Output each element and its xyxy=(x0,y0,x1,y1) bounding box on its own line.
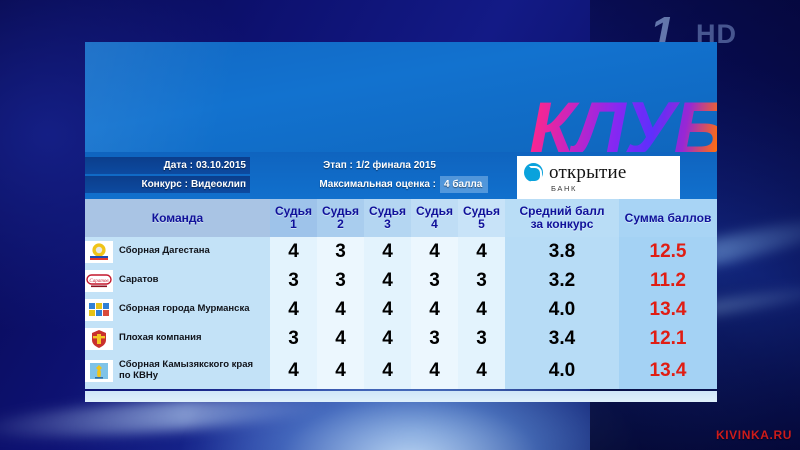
team-name: Плохая компания xyxy=(119,333,202,344)
contest-label: Конкурс : xyxy=(141,179,187,190)
cell-judge-3-score: 4 xyxy=(364,324,411,353)
stage-value: 1/2 финала 2015 xyxy=(353,160,436,171)
info-strip: Дата : 03.10.2015 Этап : 1/2 финала 2015… xyxy=(85,152,717,199)
column-header-judge-2: Судья 2 xyxy=(317,199,364,237)
cell-judge-5-score: 4 xyxy=(458,295,505,324)
table-row: СаратовСаратов334333.211.2 xyxy=(85,266,717,295)
site-watermark: KIVINKA.RU xyxy=(716,428,792,442)
cell-judge-2-score: 4 xyxy=(317,295,364,324)
show-title: КЛУБ xyxy=(529,92,717,152)
cell-average-score: 4.0 xyxy=(505,295,619,324)
show-title-plate: КЛУБ xyxy=(85,42,717,152)
cell-total-score: 12.5 xyxy=(619,237,717,266)
otkritie-circle-icon xyxy=(524,163,543,182)
cell-judge-5-score: 3 xyxy=(458,266,505,295)
cell-judge-3-score: 4 xyxy=(364,266,411,295)
max-score-value: 4 балла xyxy=(444,179,482,190)
cell-team: Сборная Дагестана xyxy=(85,237,270,266)
plohaya-kompaniya-emblem xyxy=(85,328,113,350)
kamyzyak-emblem xyxy=(85,360,113,382)
table-row: Плохая компания344333.412.1 xyxy=(85,324,717,353)
cell-judge-3-score: 4 xyxy=(364,353,411,389)
table-row: Сборная Дагестана434443.812.5 xyxy=(85,237,717,266)
cell-judge-1-score: 3 xyxy=(270,324,317,353)
cell-judge-5-score: 3 xyxy=(458,324,505,353)
cell-judge-2-score: 4 xyxy=(317,324,364,353)
table-row: Сборная города Мурманска444444.013.4 xyxy=(85,295,717,324)
cell-team: Сборная Камызякского края по КВНу xyxy=(85,353,270,389)
cell-total-score: 12.1 xyxy=(619,324,717,353)
table-header-row: Команда Судья 1 Судья 2 Судья 3 Судья 4 … xyxy=(85,199,717,237)
max-score-label-cell: Максимальная оценка : xyxy=(250,176,440,193)
table-row: Сборная Камызякского края по КВНу444444.… xyxy=(85,353,717,389)
cell-judge-4-score: 4 xyxy=(411,353,458,389)
cell-judge-4-score: 4 xyxy=(411,295,458,324)
cell-judge-1-score: 4 xyxy=(270,237,317,266)
stage-cell: Этап : 1/2 финала 2015 xyxy=(250,157,440,174)
bank-name: открытие xyxy=(549,163,627,182)
table-footer-trim xyxy=(85,391,717,402)
murmansk-emblem xyxy=(85,299,113,321)
dagestan-emblem xyxy=(85,241,113,263)
date-label: Дата : xyxy=(164,160,193,171)
date-value: 03.10.2015 xyxy=(193,160,246,171)
contest-value: Видеоклип xyxy=(188,179,246,190)
cell-judge-5-score: 4 xyxy=(458,237,505,266)
cell-total-score: 13.4 xyxy=(619,295,717,324)
cell-judge-4-score: 4 xyxy=(411,237,458,266)
team-name: Сборная Камызякского края по КВНу xyxy=(119,360,253,381)
column-header-team: Команда xyxy=(85,199,270,237)
cell-average-score: 3.2 xyxy=(505,266,619,295)
cell-team: Плохая компания xyxy=(85,324,270,353)
title-plate-sheen xyxy=(85,42,358,152)
team-name: Сборная города Мурманска xyxy=(119,304,249,315)
info-row-bottom: Конкурс : Видеоклип Максимальная оценка … xyxy=(85,176,515,193)
cell-judge-3-score: 4 xyxy=(364,295,411,324)
svg-text:Саратов: Саратов xyxy=(89,279,109,284)
team-name: Сборная Дагестана xyxy=(119,246,210,257)
saratov-emblem: Саратов xyxy=(85,270,113,292)
cell-judge-4-score: 3 xyxy=(411,324,458,353)
broadcast-frame: 1 HD KIVINKA.RU КЛУБ Дата : 03.10.2015 Э… xyxy=(0,0,800,450)
date-cell: Дата : 03.10.2015 xyxy=(85,157,250,174)
max-score-label: Максимальная оценка : xyxy=(319,179,436,190)
bank-brand-line: открытие xyxy=(524,163,680,182)
cell-average-score: 3.4 xyxy=(505,324,619,353)
sponsor-bank-logo: открытие БАНК xyxy=(517,156,680,199)
stage-label: Этап : xyxy=(323,160,353,171)
cell-total-score: 11.2 xyxy=(619,266,717,295)
bank-subtitle: БАНК xyxy=(551,184,680,193)
cell-judge-5-score: 4 xyxy=(458,353,505,389)
contest-cell: Конкурс : Видеоклип xyxy=(85,176,250,193)
cell-judge-1-score: 4 xyxy=(270,353,317,389)
column-header-average: Средний балл за конкурс xyxy=(505,199,619,237)
table-body: Сборная Дагестана434443.812.5СаратовСара… xyxy=(85,237,717,389)
cell-team: Сборная города Мурманска xyxy=(85,295,270,324)
column-header-judge-1: Судья 1 xyxy=(270,199,317,237)
cell-judge-4-score: 3 xyxy=(411,266,458,295)
cell-average-score: 4.0 xyxy=(505,353,619,389)
column-header-judge-4: Судья 4 xyxy=(411,199,458,237)
column-header-judge-5: Судья 5 xyxy=(458,199,505,237)
cell-judge-2-score: 3 xyxy=(317,237,364,266)
results-table: Команда Судья 1 Судья 2 Судья 3 Судья 4 … xyxy=(85,199,717,389)
column-header-judge-3: Судья 3 xyxy=(364,199,411,237)
max-score-value-cell: 4 балла xyxy=(440,176,488,193)
results-panel: КЛУБ Дата : 03.10.2015 Этап : 1/2 финала… xyxy=(85,42,717,402)
cell-judge-1-score: 4 xyxy=(270,295,317,324)
cell-average-score: 3.8 xyxy=(505,237,619,266)
cell-total-score: 13.4 xyxy=(619,353,717,389)
cell-judge-3-score: 4 xyxy=(364,237,411,266)
cell-judge-2-score: 4 xyxy=(317,353,364,389)
cell-judge-2-score: 3 xyxy=(317,266,364,295)
team-name: Саратов xyxy=(119,275,159,286)
info-row-top: Дата : 03.10.2015 Этап : 1/2 финала 2015 xyxy=(85,157,515,174)
cell-judge-1-score: 3 xyxy=(270,266,317,295)
table-header: Команда Судья 1 Судья 2 Судья 3 Судья 4 … xyxy=(85,199,717,237)
column-header-total: Сумма баллов xyxy=(619,199,717,237)
cell-team: СаратовСаратов xyxy=(85,266,270,295)
